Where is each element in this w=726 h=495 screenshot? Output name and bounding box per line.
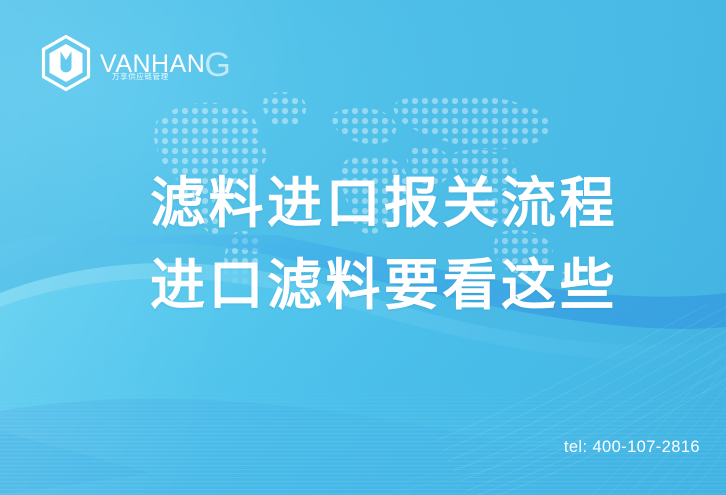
headline-line-1: 滤料进口报关流程 — [150, 162, 620, 244]
brand-name-tail: G — [204, 46, 231, 84]
headline-line-2: 进口滤料要看这些 — [150, 244, 620, 326]
contact-telephone: tel: 400-107-2816 — [564, 438, 700, 457]
poster-canvas: VANHANG 万享供应链管理 滤料进口报关流程 进口滤料要看这些 tel: 4… — [0, 0, 726, 495]
brand-tagline: 万享供应链管理 — [112, 71, 169, 82]
brand-wordmark: VANHANG 万享供应链管理 — [100, 39, 220, 87]
hexagon-u-mark-icon — [38, 34, 94, 92]
brand-logo[interactable]: VANHANG 万享供应链管理 — [38, 34, 220, 92]
headline-block: 滤料进口报关流程 进口滤料要看这些 — [150, 162, 620, 326]
